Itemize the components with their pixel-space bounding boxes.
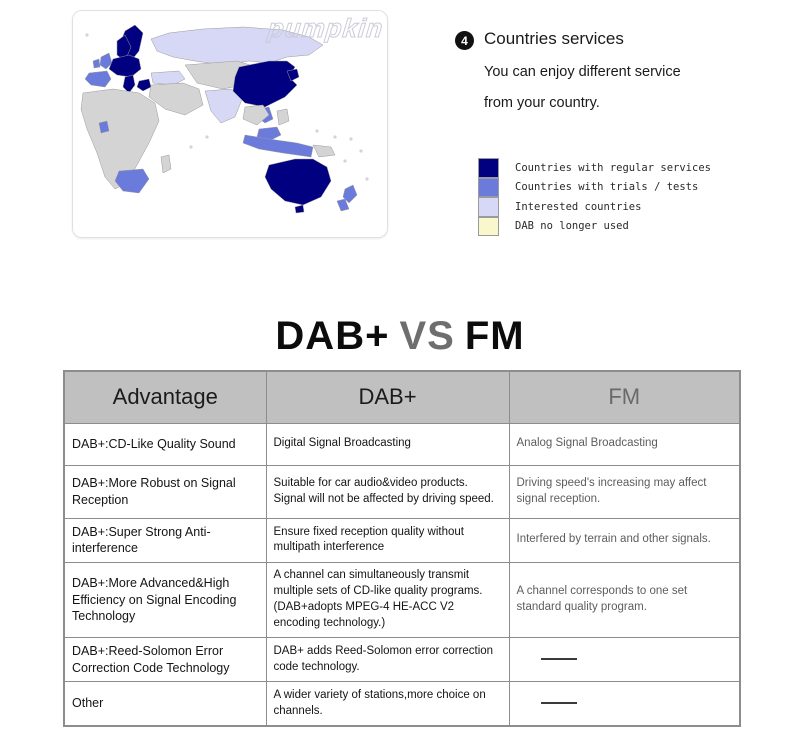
title-vs: VS [399, 314, 454, 358]
map-island-dot [315, 129, 318, 132]
legend-item: Interested countries [478, 197, 711, 217]
map-island-dot [365, 177, 368, 180]
table-row: Other A wider variety of stations,more c… [64, 682, 740, 726]
legend-swatch-no-longer-used [478, 217, 499, 237]
callout-heading-row: 4 Countries services [455, 28, 785, 50]
cell-fm: Driving speed's increasing may affect si… [509, 465, 740, 518]
cell-dab: Digital Signal Broadcasting [266, 423, 509, 465]
callout-block: 4 Countries services You can enjoy diffe… [455, 28, 785, 113]
cell-advantage: DAB+:Super Strong Anti-interference [64, 518, 266, 563]
legend-label: DAB no longer used [515, 220, 629, 232]
cell-fm-empty [509, 682, 740, 726]
cell-dab: A channel can simultaneously transmit mu… [266, 563, 509, 637]
cell-advantage: DAB+:More Advanced&High Efficiency on Si… [64, 563, 266, 637]
legend-swatch-regular-services [478, 158, 499, 178]
table-header-row: Advantage DAB+ FM [64, 371, 740, 423]
cell-fm: Analog Signal Broadcasting [509, 423, 740, 465]
map-island-dot [359, 149, 362, 152]
world-map-svg [73, 11, 387, 237]
cell-advantage: Other [64, 682, 266, 726]
legend-label: Countries with trials / tests [515, 181, 698, 193]
legend-swatch-interested [478, 197, 499, 217]
cell-advantage: DAB+:CD-Like Quality Sound [64, 423, 266, 465]
cell-advantage: DAB+:More Robust on Signal Reception [64, 465, 266, 518]
legend-label: Countries with regular services [515, 162, 711, 174]
map-island-dot [85, 33, 88, 36]
map-legend: Countries with regular services Countrie… [478, 158, 711, 236]
title-dab: DAB+ [275, 314, 389, 358]
callout-line-1: You can enjoy different service [484, 64, 785, 81]
legend-swatch-trials-tests [478, 178, 499, 198]
countries-services-section: pumpkin 4 Countries services You can enj… [0, 0, 800, 260]
map-island-dot [349, 137, 352, 140]
table-header-advantage: Advantage [64, 371, 266, 423]
table-row: DAB+:More Advanced&High Efficiency on Si… [64, 563, 740, 637]
empty-dash-icon [541, 658, 577, 660]
map-island-dot [343, 159, 346, 162]
callout-title: Countries services [484, 28, 624, 50]
cell-fm-empty [509, 637, 740, 682]
table-row: DAB+:CD-Like Quality Sound Digital Signa… [64, 423, 740, 465]
map-island-dot [189, 145, 192, 148]
map-island-dot [333, 135, 336, 138]
map-island-dot [103, 167, 106, 170]
title-fm: FM [465, 314, 525, 358]
legend-item: DAB no longer used [478, 217, 711, 237]
cell-dab: A wider variety of stations,more choice … [266, 682, 509, 726]
callout-line-2: from your country. [484, 95, 785, 112]
step-number-badge: 4 [455, 31, 474, 50]
cell-dab: DAB+ adds Reed-Solomon error correction … [266, 637, 509, 682]
legend-item: Countries with regular services [478, 158, 711, 178]
cell-fm: A channel corresponds to one set standar… [509, 563, 740, 637]
legend-label: Interested countries [515, 201, 641, 213]
map-region-ghana [99, 121, 109, 133]
cell-fm: Interfered by terrain and other signals. [509, 518, 740, 563]
legend-item: Countries with trials / tests [478, 178, 711, 198]
table-header-dab: DAB+ [266, 371, 509, 423]
dab-vs-fm-comparison-table: Advantage DAB+ FM DAB+:CD-Like Quality S… [63, 370, 741, 727]
table-row: DAB+:Reed-Solomon Error Correction Code … [64, 637, 740, 682]
dab-coverage-map-card: pumpkin [72, 10, 388, 238]
table-row: DAB+:More Robust on Signal Reception Sui… [64, 465, 740, 518]
cell-advantage: DAB+:Reed-Solomon Error Correction Code … [64, 637, 266, 682]
cell-dab: Suitable for car audio&video products. S… [266, 465, 509, 518]
table-row: DAB+:Super Strong Anti-interference Ensu… [64, 518, 740, 563]
page-title: DAB+VSFM [0, 316, 800, 356]
map-island-dot [205, 135, 208, 138]
empty-dash-icon [541, 702, 577, 704]
cell-dab: Ensure fixed reception quality without m… [266, 518, 509, 563]
table-header-fm: FM [509, 371, 740, 423]
